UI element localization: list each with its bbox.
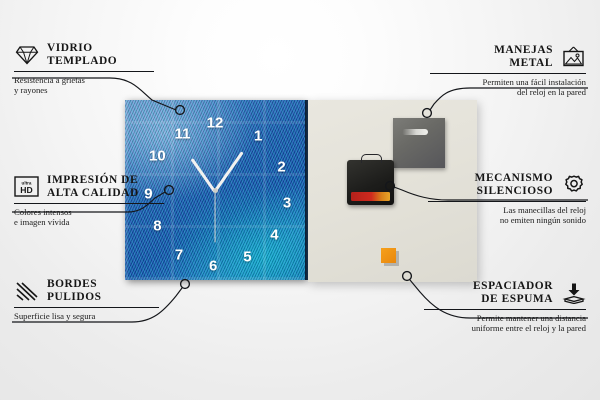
wall-frame-hook-icon bbox=[561, 46, 586, 68]
clock-numeral-7: 7 bbox=[175, 247, 183, 262]
clock-minute-hand bbox=[214, 151, 244, 192]
feature-title-line1: IMPRESIÓN DE bbox=[47, 174, 139, 187]
product-photo: 12 1 2 3 4 5 6 7 8 9 10 11 bbox=[125, 100, 477, 286]
feature-divider bbox=[14, 203, 164, 204]
clock-numeral-2: 2 bbox=[277, 159, 285, 174]
feature-espaciador-espuma: ESPACIADOR DE ESPUMA Permite mantener un… bbox=[424, 280, 586, 334]
gear-icon bbox=[561, 174, 586, 196]
feature-title-line2: TEMPLADO bbox=[47, 55, 117, 68]
feature-divider bbox=[428, 201, 586, 202]
feature-title-line2: METAL bbox=[494, 57, 553, 70]
clock-numeral-10: 10 bbox=[149, 148, 166, 163]
polished-edges-icon bbox=[14, 280, 39, 302]
feature-title-line2: SILENCIOSO bbox=[475, 185, 553, 198]
feature-impresion-alta-calidad: ultra HD IMPRESIÓN DE ALTA CALIDAD Color… bbox=[14, 174, 164, 228]
feature-title-line1: VIDRIO bbox=[47, 42, 117, 55]
feature-desc-line2: e imagen vívida bbox=[14, 217, 164, 227]
feature-divider bbox=[424, 309, 586, 310]
feature-desc-line1: Superficie lisa y segura bbox=[14, 311, 159, 321]
ultra-hd-icon: ultra HD bbox=[14, 176, 39, 198]
feature-title-line2: PULIDOS bbox=[47, 291, 102, 304]
feature-title-line1: MANEJAS bbox=[494, 44, 553, 57]
battery bbox=[351, 192, 390, 201]
clock-center-cap bbox=[213, 188, 218, 193]
feature-desc-line1: Resistencia a grietas bbox=[14, 75, 154, 85]
mechanism-hanger-loop bbox=[361, 154, 382, 163]
clock-numeral-1: 1 bbox=[254, 129, 262, 144]
feature-desc-line2: uniforme entre el reloj y la pared bbox=[424, 323, 586, 333]
infographic-canvas: 12 1 2 3 4 5 6 7 8 9 10 11 bbox=[0, 0, 600, 400]
foam-spacer-arrow-icon bbox=[561, 282, 586, 304]
feature-mecanismo-silencioso: MECANISMO SILENCIOSO Las manecillas del … bbox=[428, 172, 586, 226]
feature-desc-line2: y rayones bbox=[14, 85, 154, 95]
feature-desc-line1: Colores intensos bbox=[14, 207, 164, 217]
feature-vidrio-templado: VIDRIO TEMPLADO Resistencia a grietas y … bbox=[14, 42, 154, 96]
clock-numeral-6: 6 bbox=[209, 258, 217, 273]
feature-title-line1: MECANISMO bbox=[475, 172, 553, 185]
feature-desc-line1: Permiten una fácil instalación bbox=[430, 77, 586, 87]
feature-divider bbox=[14, 307, 159, 308]
feature-desc-line2: del reloj en la pared bbox=[430, 87, 586, 97]
clock-numeral-3: 3 bbox=[283, 195, 291, 210]
foam-spacer-pad bbox=[381, 248, 396, 263]
feature-desc-line1: Permite mantener una distancia bbox=[424, 313, 586, 323]
clock-numeral-5: 5 bbox=[243, 249, 251, 264]
feature-title-line2: DE ESPUMA bbox=[473, 293, 553, 306]
feature-manejas-metal: MANEJAS METAL Permiten una fácil instala… bbox=[430, 44, 586, 98]
hanger-keyhole-slot bbox=[402, 129, 428, 135]
feature-divider bbox=[430, 73, 586, 74]
clock-second-hand bbox=[214, 191, 215, 243]
feature-desc-line1: Las manecillas del reloj bbox=[428, 205, 586, 215]
clock-numeral-4: 4 bbox=[270, 228, 278, 243]
feature-bordes-pulidos: BORDES PULIDOS Superficie lisa y segura bbox=[14, 278, 159, 321]
feature-title-line2: ALTA CALIDAD bbox=[47, 187, 139, 200]
clock-hour-hand bbox=[191, 158, 217, 193]
metal-hanger-plate bbox=[393, 118, 445, 168]
svg-text:HD: HD bbox=[20, 185, 32, 195]
diamond-icon bbox=[14, 44, 39, 66]
clock-movement-mechanism bbox=[347, 160, 394, 205]
clock-numeral-12: 12 bbox=[207, 116, 224, 131]
clock-numeral-11: 11 bbox=[175, 127, 191, 142]
feature-divider bbox=[14, 71, 154, 72]
feature-title-line1: BORDES bbox=[47, 278, 102, 291]
feature-title-line1: ESPACIADOR bbox=[473, 280, 553, 293]
feature-desc-line2: no emiten ningún sonido bbox=[428, 215, 586, 225]
